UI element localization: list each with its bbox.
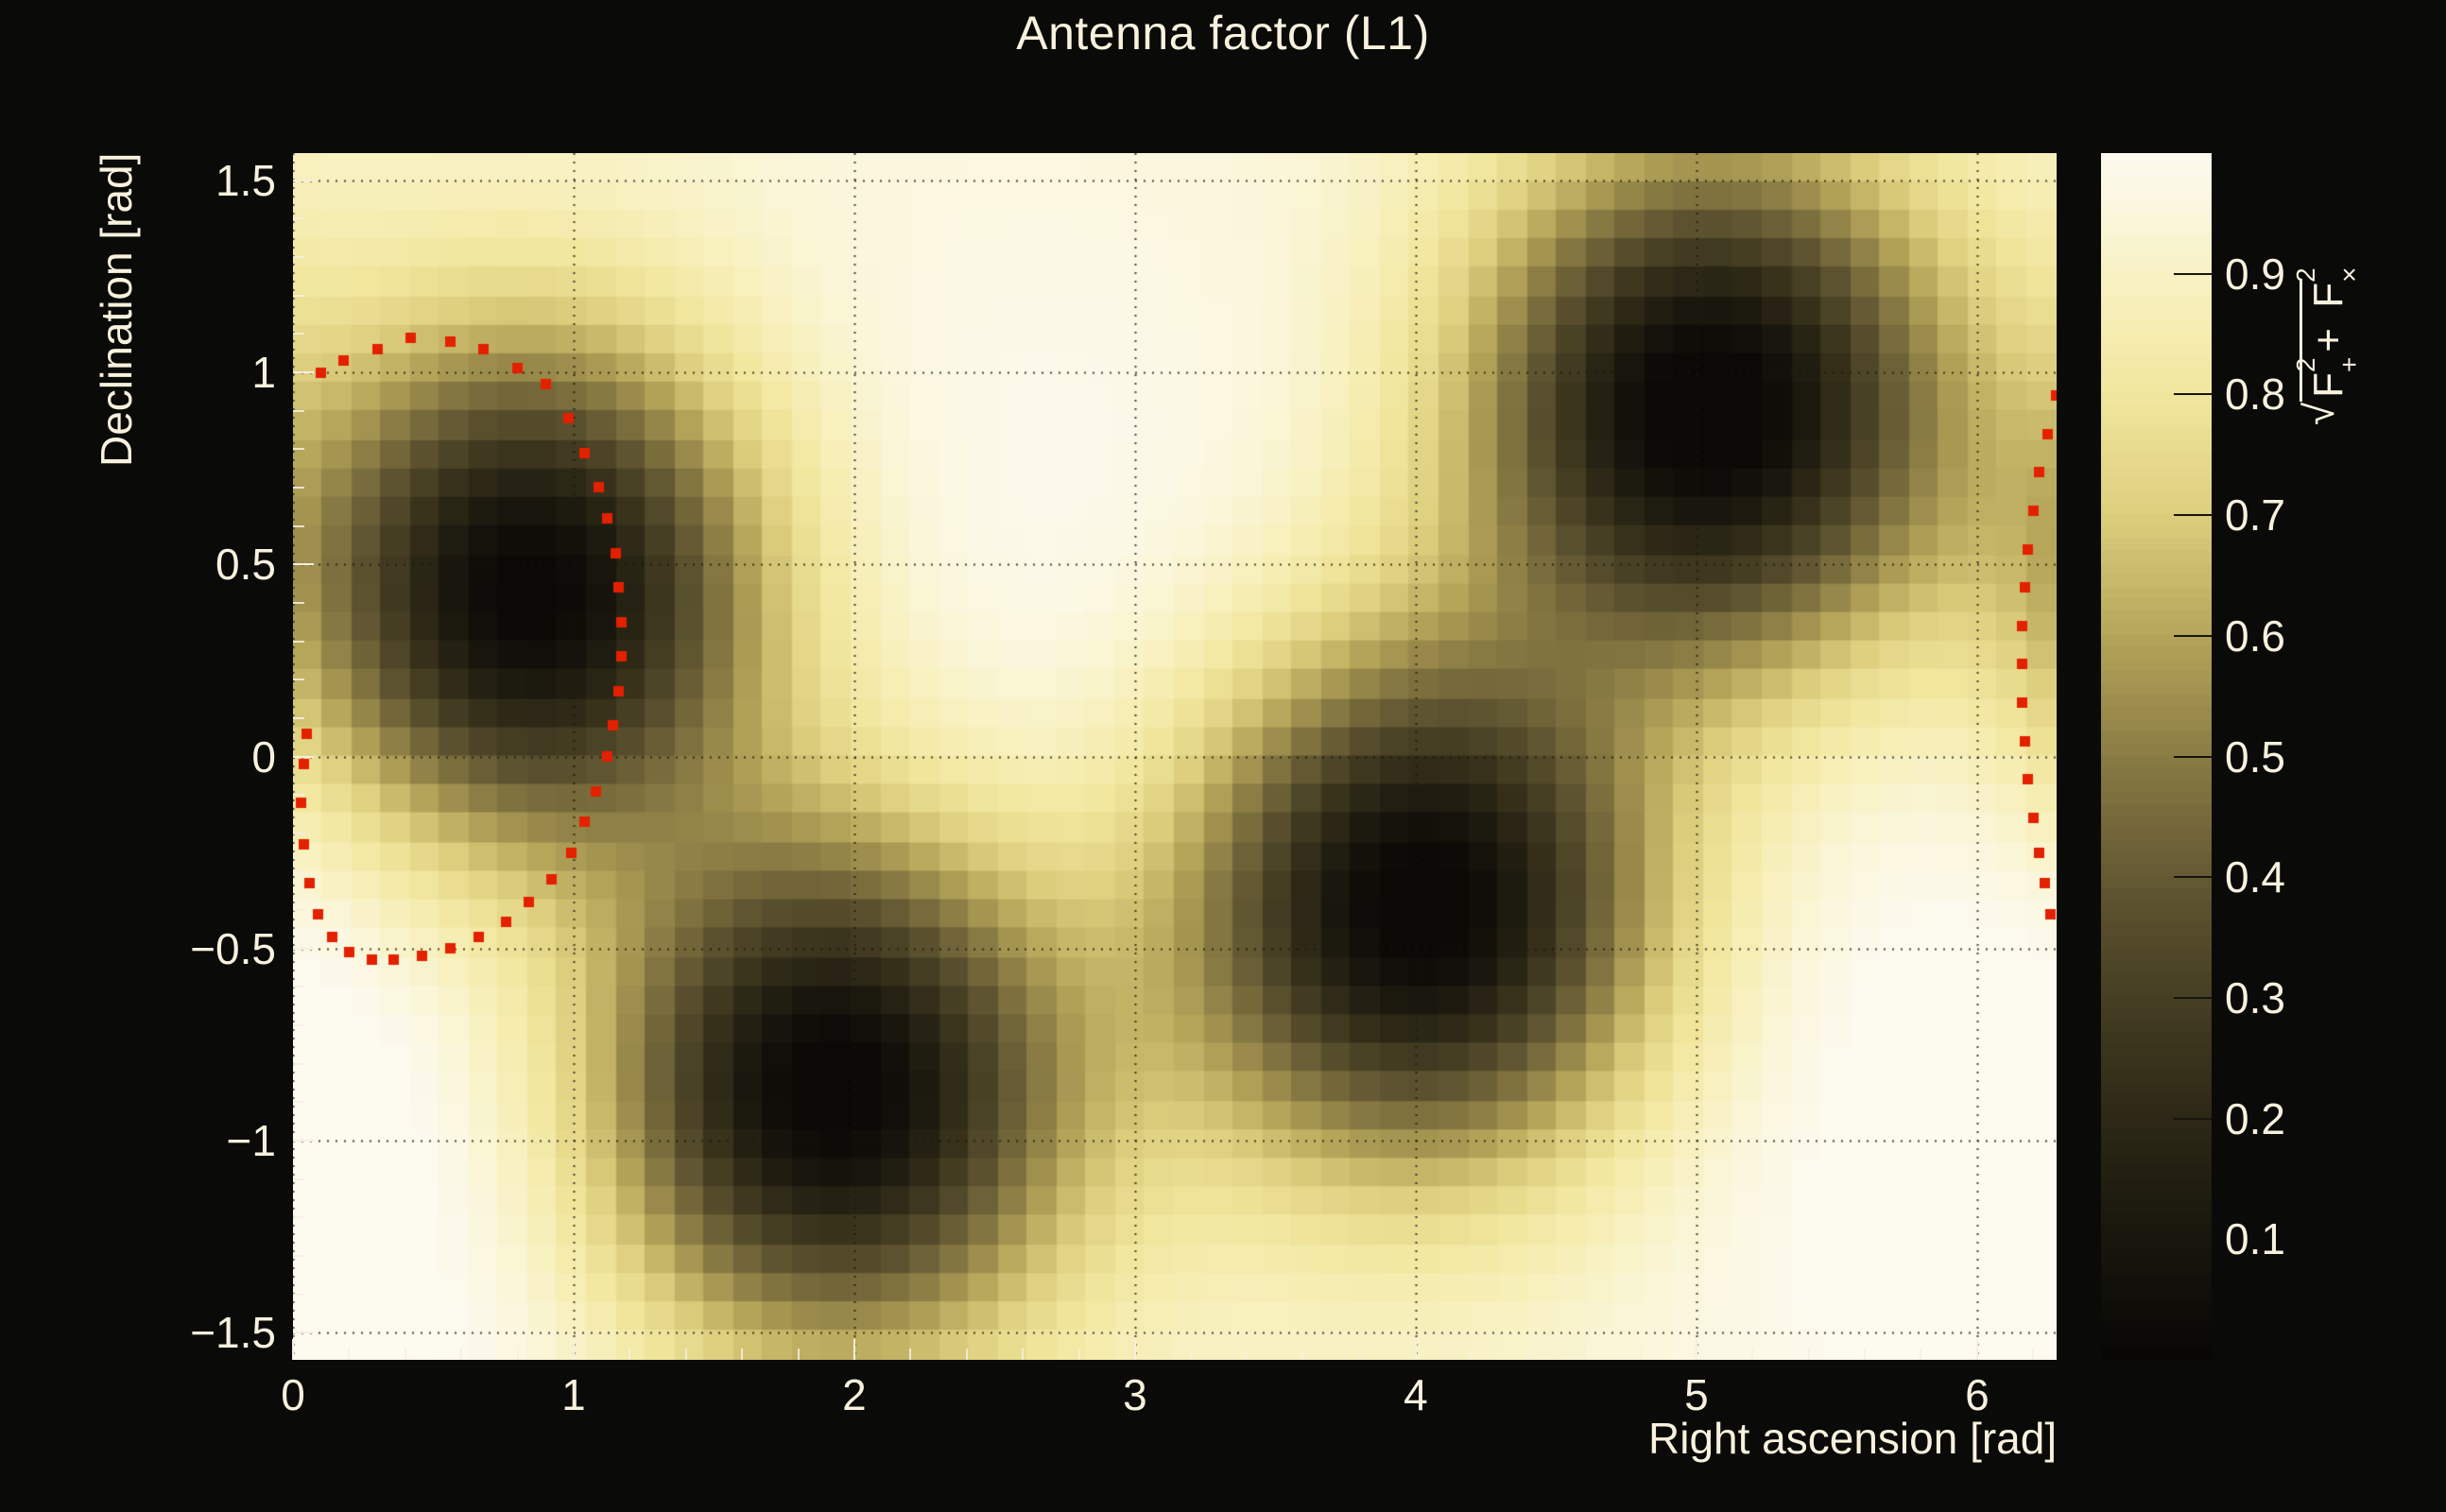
y-tick-label-2: 0.5 xyxy=(215,539,276,590)
colorbar-tick-label-2: 0.3 xyxy=(2225,972,2285,1023)
colorbar-tick-mark xyxy=(2174,514,2212,516)
y-tick-label-1: 1 xyxy=(251,347,276,398)
plus-operator: + xyxy=(2305,319,2351,361)
x-minor-tick xyxy=(1022,1349,1024,1360)
y-tick-mark xyxy=(293,948,314,950)
y-minor-tick xyxy=(293,448,304,450)
x-tick-label-4: 4 xyxy=(1404,1369,1428,1420)
y-tick-label-5: −1 xyxy=(227,1115,276,1166)
y-tick-mark xyxy=(293,180,314,181)
x-minor-tick xyxy=(348,1349,350,1360)
colorbar-tick-label-5: 0.6 xyxy=(2225,610,2285,661)
y-minor-tick xyxy=(293,833,304,834)
colorbar-tick-mark xyxy=(2174,635,2212,637)
colorbar-tick-label-7: 0.8 xyxy=(2225,369,2285,420)
y-tick-label-3: 0 xyxy=(251,731,276,782)
x-minor-tick xyxy=(1078,1349,1080,1360)
x-minor-tick xyxy=(798,1349,800,1360)
x-tick-label-3: 3 xyxy=(1123,1369,1147,1420)
y-minor-tick xyxy=(293,679,304,680)
x-minor-tick xyxy=(1808,1349,1810,1360)
x-minor-tick xyxy=(1302,1349,1304,1360)
f-cross-subscript: × xyxy=(2336,267,2363,283)
page-title: Antenna factor (L1) xyxy=(0,6,2446,60)
x-minor-tick xyxy=(1751,1349,1753,1360)
x-minor-tick xyxy=(1190,1349,1192,1360)
y-tick-mark xyxy=(293,563,314,565)
x-tick-mark xyxy=(573,1339,575,1360)
colorbar-tick-mark xyxy=(2174,997,2212,999)
colorbar-tick-label-1: 0.2 xyxy=(2225,1093,2285,1144)
y-tick-mark xyxy=(293,371,314,373)
x-minor-tick xyxy=(1640,1349,1642,1360)
y-minor-tick xyxy=(293,717,304,719)
y-minor-tick xyxy=(293,410,304,412)
y-tick-label-0: 1.5 xyxy=(215,155,276,206)
y-tick-mark xyxy=(293,1140,314,1142)
y-tick-label-4: −0.5 xyxy=(190,923,276,974)
x-tick-label-2: 2 xyxy=(842,1369,867,1420)
y-axis-title: Declination [rad] xyxy=(91,153,142,467)
colorbar-tick-label-6: 0.7 xyxy=(2225,490,2285,541)
x-minor-tick xyxy=(1864,1349,1866,1360)
y-minor-tick xyxy=(293,870,304,872)
y-minor-tick xyxy=(293,525,304,527)
colorbar-tick-mark xyxy=(2174,273,2212,275)
x-axis-title: Right ascension [rad] xyxy=(1648,1413,2057,1464)
x-minor-tick xyxy=(629,1349,630,1360)
y-minor-tick xyxy=(293,333,304,335)
y-minor-tick xyxy=(293,1101,304,1103)
y-minor-tick xyxy=(293,794,304,796)
y-tick-mark xyxy=(293,756,314,758)
x-minor-tick xyxy=(966,1349,968,1360)
x-minor-tick xyxy=(1247,1349,1249,1360)
y-tick-mark xyxy=(293,1332,314,1333)
colorbar-tick-mark xyxy=(2174,1118,2212,1120)
x-tick-label-0: 0 xyxy=(281,1369,305,1420)
y-minor-tick xyxy=(293,1024,304,1026)
heatmap-plot-area[interactable] xyxy=(293,153,2057,1360)
colorbar-tick-mark xyxy=(2174,756,2212,758)
colorbar-tick-mark xyxy=(2174,393,2212,395)
y-minor-tick xyxy=(293,1255,304,1257)
y-minor-tick xyxy=(293,641,304,643)
f-plus-exponent: 2 xyxy=(2293,357,2319,372)
x-minor-tick xyxy=(1583,1349,1585,1360)
x-minor-tick xyxy=(685,1349,687,1360)
sqrt-icon: √ xyxy=(2300,402,2350,425)
x-minor-tick xyxy=(2032,1349,2034,1360)
y-minor-tick xyxy=(293,1294,304,1296)
y-minor-tick xyxy=(293,1178,304,1180)
overlay-curve-canvas xyxy=(293,153,2057,1360)
colorbar-title: √ F 2 + + F 2 × xyxy=(2297,279,2350,425)
colorbar-tick-label-8: 0.9 xyxy=(2225,249,2285,300)
f-plus-symbol: F xyxy=(2305,372,2351,398)
f-plus-subscript: + xyxy=(2336,357,2363,372)
x-minor-tick xyxy=(460,1349,462,1360)
y-minor-tick xyxy=(293,909,304,911)
x-minor-tick xyxy=(1471,1349,1473,1360)
x-tick-mark xyxy=(292,1339,294,1360)
y-minor-tick xyxy=(293,217,304,219)
y-minor-tick xyxy=(293,986,304,988)
colorbar-tick-label-3: 0.4 xyxy=(2225,851,2285,902)
colorbar-tick-label-4: 0.5 xyxy=(2225,731,2285,782)
x-minor-tick xyxy=(1359,1349,1361,1360)
x-tick-mark xyxy=(853,1339,855,1360)
x-tick-mark xyxy=(1134,1339,1136,1360)
f-cross-exponent: 2 xyxy=(2293,267,2319,283)
y-minor-tick xyxy=(293,1063,304,1065)
colorbar-tick-label-0: 0.1 xyxy=(2225,1213,2285,1264)
x-tick-label-1: 1 xyxy=(561,1369,586,1420)
y-minor-tick xyxy=(293,602,304,604)
y-minor-tick xyxy=(293,256,304,258)
f-cross-symbol: F xyxy=(2305,283,2351,308)
x-tick-mark xyxy=(1696,1339,1697,1360)
x-tick-mark xyxy=(1415,1339,1417,1360)
x-minor-tick xyxy=(517,1349,519,1360)
y-minor-tick xyxy=(293,1216,304,1218)
x-minor-tick xyxy=(741,1349,743,1360)
y-minor-tick xyxy=(293,487,304,489)
x-minor-tick xyxy=(909,1349,911,1360)
x-tick-mark xyxy=(1976,1339,1978,1360)
y-minor-tick xyxy=(293,295,304,297)
x-minor-tick xyxy=(1920,1349,1921,1360)
colorbar-tick-mark xyxy=(2174,876,2212,878)
y-tick-label-6: −1.5 xyxy=(190,1307,276,1358)
x-minor-tick xyxy=(1527,1349,1529,1360)
x-minor-tick xyxy=(405,1349,406,1360)
colorbar-tick-mark xyxy=(2174,1238,2212,1240)
